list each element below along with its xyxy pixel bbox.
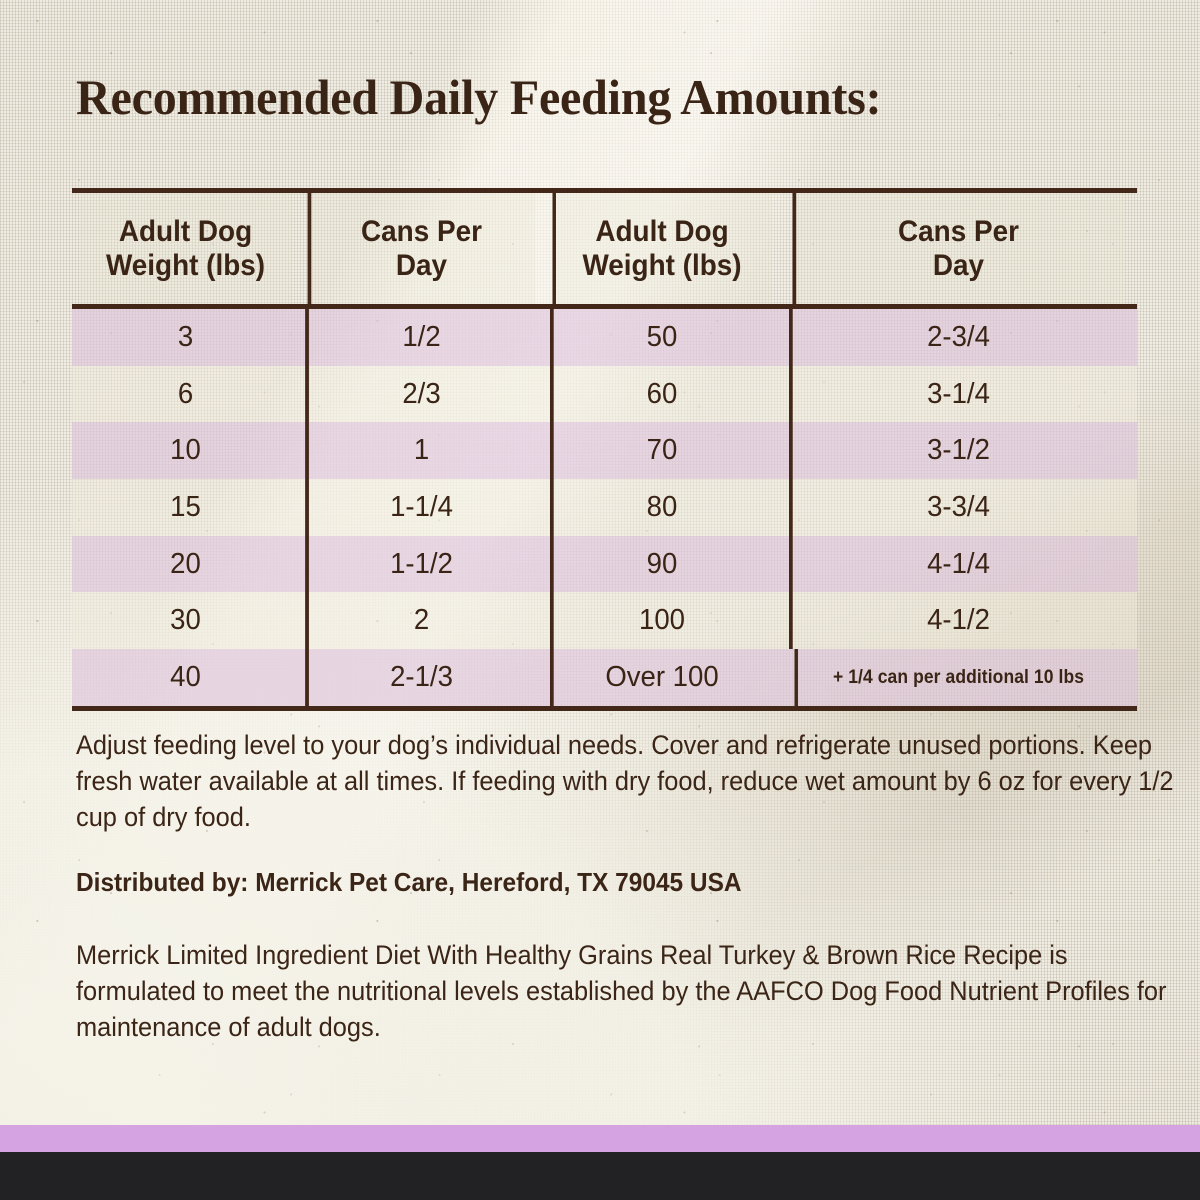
cell-weight-2: 90 <box>550 536 774 593</box>
column-header-line: Cans Per <box>361 215 482 248</box>
cell-cans-1: 2-1/3 <box>305 649 538 708</box>
table-row: 15 1-1/4 80 3-3/4 <box>72 479 1137 536</box>
cell-weight-2: Over 100 <box>550 649 774 708</box>
column-header-line: Adult Dog <box>119 215 252 248</box>
cell-weight-2: 60 <box>550 366 774 423</box>
column-header-weight-1: Adult Dog Weight (lbs) <box>80 191 291 307</box>
column-header-line: Day <box>396 249 447 282</box>
cell-cans-2: 3-1/2 <box>789 422 1128 479</box>
column-header-line: Adult Dog <box>595 215 728 248</box>
column-header-line: Day <box>933 249 984 282</box>
feeding-guide-panel: Recommended Daily Feeding Amounts: Adult… <box>0 0 1200 1200</box>
column-header-line: Weight (lbs) <box>106 249 265 282</box>
table-row: 40 2-1/3 Over 100 + 1/4 can per addition… <box>72 649 1137 708</box>
cell-weight-1: 40 <box>78 649 294 708</box>
cell-cans-1: 1-1/4 <box>305 479 538 536</box>
column-header-line: Weight (lbs) <box>582 249 741 282</box>
table-header-row: Adult Dog Weight (lbs) Cans Per Day Adul… <box>72 191 1137 307</box>
cell-cans-1: 1/2 <box>305 307 538 366</box>
cell-weight-2: 80 <box>550 479 774 536</box>
cell-cans-1: 1 <box>305 422 538 479</box>
cell-cans-2: 3-1/4 <box>789 366 1128 423</box>
page-title: Recommended Daily Feeding Amounts: <box>76 68 881 126</box>
cell-weight-1: 30 <box>78 592 294 649</box>
column-header-cans-1: Cans Per Day <box>308 191 536 307</box>
cell-cans-2: 4-1/4 <box>789 536 1128 593</box>
column-header-weight-2: Adult Dog Weight (lbs) <box>552 191 771 307</box>
table-body: 3 1/2 50 2-3/4 6 2/3 60 3-1/4 10 1 70 3-… <box>72 307 1137 709</box>
cell-extra-note: + 1/4 can per additional 10 lbs <box>794 649 1122 708</box>
cell-cans-2: 4-1/2 <box>789 592 1128 649</box>
cell-weight-1: 6 <box>78 366 294 423</box>
feeding-instructions-text: Adjust feeding level to your dog’s indiv… <box>76 727 1181 835</box>
table-row: 10 1 70 3-1/2 <box>72 422 1137 479</box>
column-header-cans-2: Cans Per Day <box>792 191 1124 307</box>
cell-weight-1: 3 <box>78 307 294 366</box>
cell-weight-1: 10 <box>78 422 294 479</box>
cell-cans-2: 3-3/4 <box>789 479 1128 536</box>
table-row: 20 1-1/2 90 4-1/4 <box>72 536 1137 593</box>
table-row: 6 2/3 60 3-1/4 <box>72 366 1137 423</box>
table-row: 3 1/2 50 2-3/4 <box>72 307 1137 366</box>
cell-cans-1: 2 <box>305 592 538 649</box>
footer-accent-bar-purple <box>0 1125 1200 1152</box>
distributor-text: Distributed by: Merrick Pet Care, Herefo… <box>76 866 1181 898</box>
cell-weight-2: 70 <box>550 422 774 479</box>
cell-cans-1: 1-1/2 <box>305 536 538 593</box>
feeding-amounts-table: Adult Dog Weight (lbs) Cans Per Day Adul… <box>72 188 1137 711</box>
cell-cans-1: 2/3 <box>305 366 538 423</box>
cell-weight-1: 20 <box>78 536 294 593</box>
cell-weight-2: 50 <box>550 307 774 366</box>
footer-bar-dark <box>0 1152 1200 1200</box>
cell-cans-2: 2-3/4 <box>789 307 1128 366</box>
cell-weight-2: 100 <box>550 592 774 649</box>
column-header-line: Cans Per <box>898 215 1019 248</box>
table-row: 30 2 100 4-1/2 <box>72 592 1137 649</box>
aafco-statement-text: Merrick Limited Ingredient Diet With Hea… <box>76 937 1181 1045</box>
table-header: Adult Dog Weight (lbs) Cans Per Day Adul… <box>72 191 1137 307</box>
cell-weight-1: 15 <box>78 479 294 536</box>
